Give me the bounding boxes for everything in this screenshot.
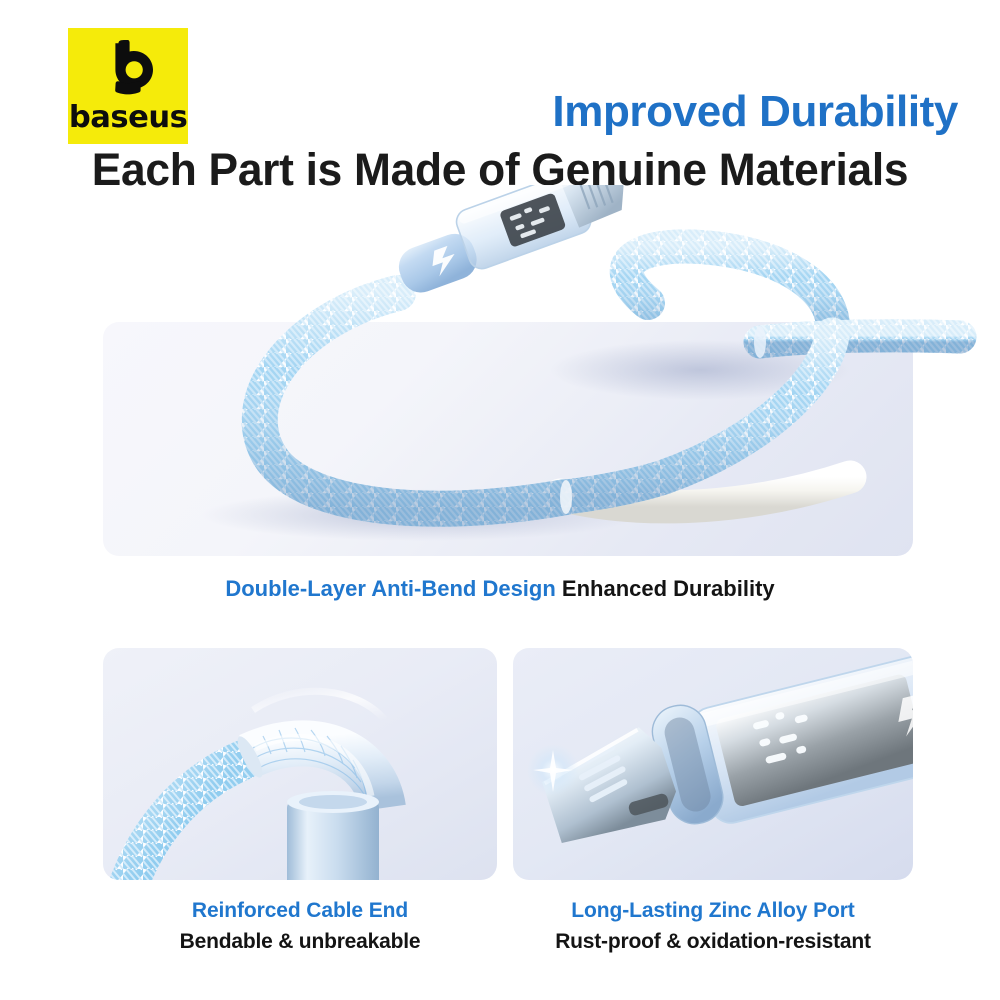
feature-subtitle: Bendable & unbreakable (103, 928, 497, 955)
feature-title: Reinforced Cable End (103, 897, 497, 924)
feature-caption-reinforced-cable-end: Reinforced Cable End Bendable & unbreaka… (103, 897, 497, 956)
feature-panel-reinforced-cable-end (103, 648, 497, 880)
reinforced-cable-end-illustration (103, 648, 497, 880)
headline-primary: Improved Durability (0, 89, 958, 135)
hero-cable-illustration (0, 185, 1000, 575)
feature-subtitle: Rust-proof & oxidation-resistant (513, 928, 913, 955)
hero-caption-rest: Enhanced Durability (562, 576, 775, 601)
hero-caption: Double-Layer Anti-Bend Design Enhanced D… (0, 575, 1000, 603)
feature-panel-zinc-alloy-port (513, 648, 913, 880)
hero-caption-highlight: Double-Layer Anti-Bend Design (225, 576, 555, 601)
feature-title: Long-Lasting Zinc Alloy Port (513, 897, 913, 924)
zinc-alloy-port-illustration (513, 648, 913, 880)
feature-caption-zinc-alloy-port: Long-Lasting Zinc Alloy Port Rust-proof … (513, 897, 913, 956)
